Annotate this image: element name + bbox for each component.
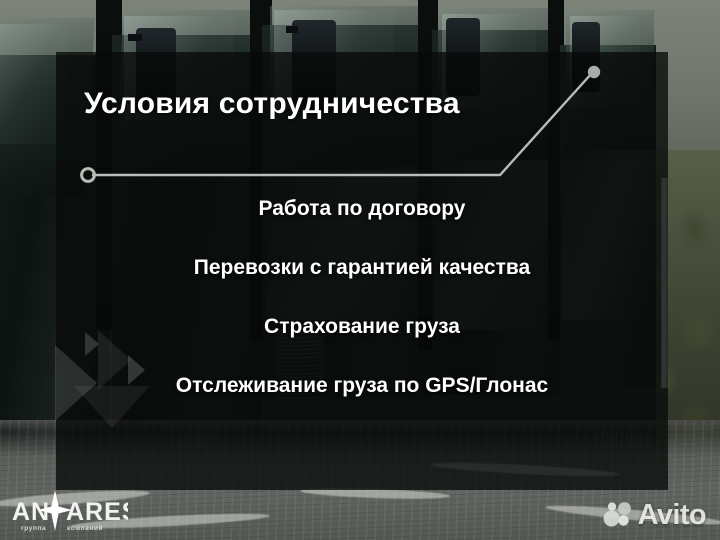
logo-tagline-left: группа [21, 525, 46, 532]
logo-brand-left: AN [12, 498, 50, 526]
antares-logo-svg: AN ARES группа компаний [10, 486, 128, 534]
mirror-arm-2 [128, 34, 142, 41]
list-item: Работа по договору [56, 196, 668, 223]
list-item: Перевозки с гарантией качества [56, 255, 668, 282]
avito-watermark: Avito [603, 500, 706, 530]
benefits-list: Работа по договору Перевозки с гарантией… [56, 196, 668, 400]
avito-wordmark: Avito [638, 501, 706, 530]
banner-root: Условия сотрудничества Работа по договор… [0, 0, 720, 540]
list-item: Отслеживание груза по GPS/Глонас [56, 373, 668, 400]
list-item: Страхование груза [56, 314, 668, 341]
logo-tagline-right: компаний [67, 524, 103, 532]
mirror-arm-3 [286, 26, 298, 33]
avito-dots-icon [603, 500, 633, 530]
logo-brand-right: ARES [66, 498, 128, 526]
page-title: Условия сотрудничества [84, 87, 604, 120]
company-logo: AN ARES группа компаний [10, 486, 128, 534]
